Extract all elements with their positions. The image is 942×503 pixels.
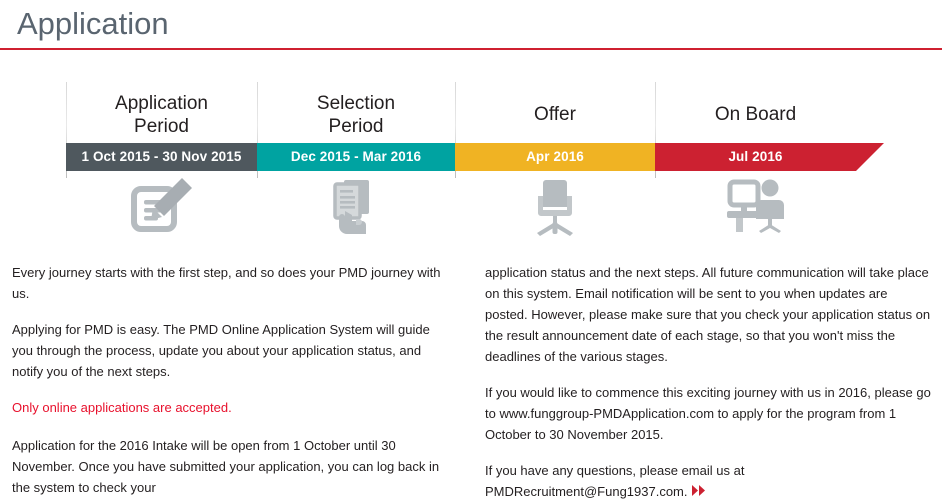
form-pencil-icon [66,178,257,234]
page-title: Application [17,3,169,45]
paragraph-apply-link: If you would like to commence this excit… [485,382,931,445]
document-hand-icon [257,178,455,234]
stage-date-bar-on-board: Jul 2016 [655,143,856,171]
stage-label-line2: Period [257,115,455,138]
stage-label-line1: Selection [257,92,455,115]
stage-date-bar-selection-period: Dec 2015 - Mar 2016 [257,143,455,171]
stage-label: Application Period [66,92,257,138]
double-triangle-right-icon[interactable] [692,481,707,502]
stage-label-line1: Application [66,92,257,115]
paragraph-applying: Applying for PMD is easy. The PMD Online… [12,319,444,382]
stage-label: Selection Period [257,92,455,138]
paragraph-online-only-note: Only online applications are accepted. [12,397,444,418]
paragraph-status-continued: application status and the next steps. A… [485,262,931,367]
office-chair-icon [455,178,655,236]
paragraph-contact: If you have any questions, please email … [485,460,931,503]
stage-label: Offer [455,103,655,126]
stage-date-bar-application-period: 1 Oct 2015 - 30 Nov 2015 [66,143,257,171]
stage-date-bar-offer: Apr 2016 [455,143,655,171]
paragraph-intake-dates: Application for the 2016 Intake will be … [12,435,444,498]
stage-label: On Board [655,103,856,126]
page-header: Application [0,0,942,50]
stage-label-line1: On Board [655,103,856,126]
stage-label-line1: Offer [455,103,655,126]
application-timeline: Application Period Selection Period [66,82,856,182]
stage-label-line2: Period [66,115,257,138]
timeline-arrow-head [856,143,884,171]
body-copy: Every journey starts with the first step… [0,262,942,449]
person-at-desk-icon [655,178,856,234]
right-text-column: application status and the next steps. A… [485,262,931,503]
paragraph-intro: Every journey starts with the first step… [12,262,444,304]
left-text-column: Every journey starts with the first step… [12,262,444,498]
